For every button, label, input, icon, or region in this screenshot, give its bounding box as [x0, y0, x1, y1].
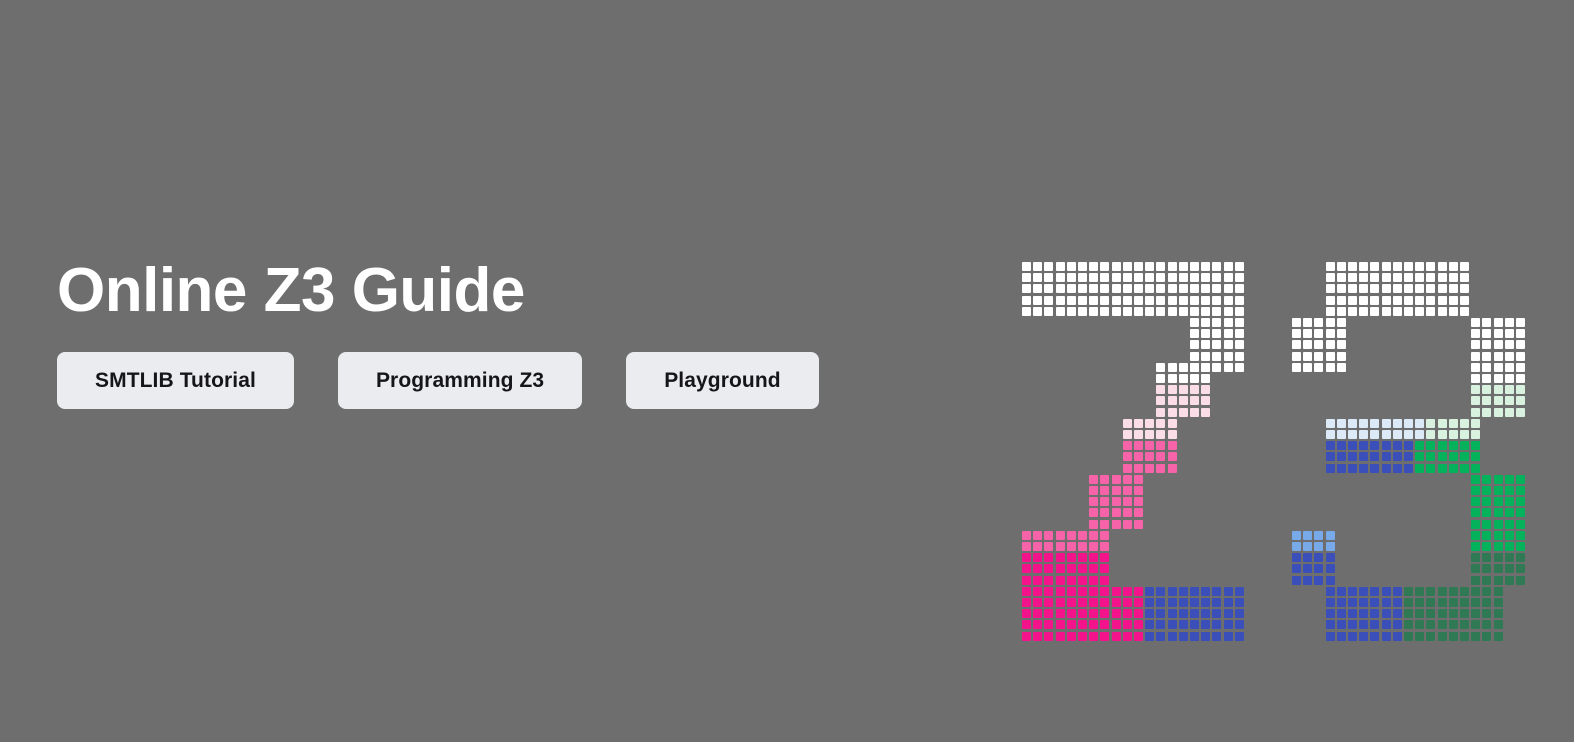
logo-pixel: [1337, 363, 1346, 372]
logo-pixel: [1516, 508, 1525, 517]
logo-pixel: [1033, 262, 1042, 271]
logo-pixel: [1078, 620, 1087, 629]
logo-pixel: [1415, 620, 1424, 629]
logo-pixel: [1168, 452, 1177, 461]
programming-z3-button[interactable]: Programming Z3: [338, 352, 582, 409]
logo-pixel: [1179, 262, 1188, 271]
logo-pixel: [1089, 576, 1098, 585]
logo-pixel: [1471, 396, 1480, 405]
logo-pixel: [1190, 284, 1199, 293]
logo-pixel: [1438, 452, 1447, 461]
logo-pixel: [1449, 632, 1458, 641]
logo-pixel: [1168, 296, 1177, 305]
logo-pixel: [1134, 307, 1143, 316]
logo-pixel: [1145, 284, 1154, 293]
logo-pixel: [1482, 486, 1491, 495]
logo-pixel: [1460, 452, 1469, 461]
logo-pixel: [1190, 329, 1199, 338]
logo-pixel: [1471, 363, 1480, 372]
logo-pixel: [1292, 542, 1301, 551]
logo-pixel: [1482, 542, 1491, 551]
logo-pixel: [1370, 464, 1379, 473]
logo-pixel: [1067, 307, 1076, 316]
logo-pixel: [1415, 419, 1424, 428]
logo-pixel: [1460, 273, 1469, 282]
logo-pixel: [1056, 273, 1065, 282]
logo-pixel: [1235, 307, 1244, 316]
logo-pixel: [1393, 620, 1402, 629]
logo-pixel: [1482, 352, 1491, 361]
logo-pixel: [1212, 318, 1221, 327]
logo-pixel: [1482, 385, 1491, 394]
logo-pixel: [1359, 452, 1368, 461]
playground-button[interactable]: Playground: [626, 352, 819, 409]
logo-pixel: [1460, 296, 1469, 305]
logo-pixel: [1100, 542, 1109, 551]
logo-pixel: [1494, 632, 1503, 641]
logo-pixel: [1393, 419, 1402, 428]
logo-pixel: [1482, 609, 1491, 618]
logo-pixel: [1449, 307, 1458, 316]
logo-pixel: [1134, 262, 1143, 271]
logo-pixel: [1022, 576, 1031, 585]
logo-pixel: [1022, 531, 1031, 540]
logo-pixel: [1190, 273, 1199, 282]
logo-pixel: [1168, 464, 1177, 473]
logo-pixel: [1224, 620, 1233, 629]
logo-pixel: [1145, 587, 1154, 596]
logo-pixel: [1505, 396, 1514, 405]
logo-pixel: [1326, 284, 1335, 293]
logo-pixel: [1145, 296, 1154, 305]
logo-pixel: [1370, 598, 1379, 607]
logo-pixel: [1112, 475, 1121, 484]
logo-pixel: [1224, 609, 1233, 618]
logo-pixel: [1404, 452, 1413, 461]
logo-pixel: [1201, 408, 1210, 417]
logo-pixel: [1056, 598, 1065, 607]
logo-pixel: [1494, 329, 1503, 338]
logo-pixel: [1212, 587, 1221, 596]
logo-pixel: [1145, 452, 1154, 461]
logo-pixel: [1382, 307, 1391, 316]
logo-pixel: [1190, 296, 1199, 305]
logo-pixel: [1067, 564, 1076, 573]
logo-pixel: [1089, 497, 1098, 506]
logo-pixel: [1056, 531, 1065, 540]
hero-copy: Online Z3 Guide SMTLIB Tutorial Programm…: [57, 258, 957, 409]
logo-pixel: [1056, 587, 1065, 596]
logo-pixel: [1471, 520, 1480, 529]
logo-pixel: [1348, 609, 1357, 618]
logo-pixel: [1235, 296, 1244, 305]
logo-pixel: [1078, 576, 1087, 585]
logo-pixel: [1415, 441, 1424, 450]
logo-pixel: [1516, 329, 1525, 338]
logo-pixel: [1438, 262, 1447, 271]
logo-pixel: [1123, 262, 1132, 271]
logo-pixel: [1471, 486, 1480, 495]
logo-pixel: [1168, 598, 1177, 607]
logo-pixel: [1426, 296, 1435, 305]
logo-pixel: [1100, 587, 1109, 596]
logo-pixel: [1112, 262, 1121, 271]
logo-pixel: [1089, 486, 1098, 495]
logo-pixel: [1089, 620, 1098, 629]
logo-pixel: [1134, 520, 1143, 529]
logo-pixel: [1022, 632, 1031, 641]
logo-pixel: [1112, 486, 1121, 495]
logo-pixel: [1179, 587, 1188, 596]
logo-pixel: [1415, 464, 1424, 473]
logo-pixel: [1123, 452, 1132, 461]
logo-pixel: [1449, 430, 1458, 439]
logo-pixel: [1494, 385, 1503, 394]
logo-pixel: [1123, 632, 1132, 641]
logo-pixel: [1326, 352, 1335, 361]
logo-pixel: [1123, 307, 1132, 316]
logo-pixel: [1471, 553, 1480, 562]
logo-pixel: [1033, 307, 1042, 316]
logo-pixel: [1326, 632, 1335, 641]
logo-pixel: [1326, 307, 1335, 316]
logo-pixel: [1044, 296, 1053, 305]
logo-pixel: [1067, 632, 1076, 641]
logo-pixel: [1326, 363, 1335, 372]
logo-pixel: [1100, 475, 1109, 484]
logo-pixel: [1370, 307, 1379, 316]
logo-pixel: [1134, 609, 1143, 618]
logo-pixel: [1235, 598, 1244, 607]
logo-pixel: [1359, 262, 1368, 271]
logo-pixel: [1145, 632, 1154, 641]
logo-pixel: [1404, 609, 1413, 618]
logo-pixel: [1382, 441, 1391, 450]
logo-pixel: [1326, 620, 1335, 629]
logo-pixel: [1471, 564, 1480, 573]
logo-pixel: [1123, 464, 1132, 473]
logo-pixel: [1348, 441, 1357, 450]
logo-pixel: [1348, 307, 1357, 316]
logo-pixel: [1471, 408, 1480, 417]
logo-pixel: [1100, 564, 1109, 573]
logo-pixel: [1033, 632, 1042, 641]
logo-pixel: [1156, 587, 1165, 596]
logo-pixel: [1516, 520, 1525, 529]
logo-pixel: [1471, 620, 1480, 629]
logo-pixel: [1393, 587, 1402, 596]
logo-pixel: [1449, 598, 1458, 607]
logo-pixel: [1156, 441, 1165, 450]
logo-pixel: [1404, 620, 1413, 629]
logo-pixel: [1471, 340, 1480, 349]
logo-pixel: [1404, 441, 1413, 450]
logo-pixel: [1067, 262, 1076, 271]
logo-pixel: [1415, 587, 1424, 596]
logo-pixel: [1123, 284, 1132, 293]
logo-pixel: [1123, 508, 1132, 517]
logo-pixel: [1359, 307, 1368, 316]
logo-pixel: [1326, 452, 1335, 461]
logo-pixel: [1156, 598, 1165, 607]
logo-pixel: [1505, 508, 1514, 517]
logo-pixel: [1359, 464, 1368, 473]
logo-pixel: [1348, 598, 1357, 607]
logo-pixel: [1303, 329, 1312, 338]
logo-pixel: [1359, 430, 1368, 439]
logo-pixel: [1123, 598, 1132, 607]
logo-pixel: [1067, 284, 1076, 293]
logo-pixel: [1168, 374, 1177, 383]
logo-pixel: [1078, 262, 1087, 271]
logo-pixel: [1224, 363, 1233, 372]
logo-pixel: [1123, 441, 1132, 450]
logo-pixel: [1100, 531, 1109, 540]
logo-pixel: [1190, 318, 1199, 327]
logo-pixel: [1415, 609, 1424, 618]
logo-pixel: [1044, 542, 1053, 551]
logo-pixel: [1314, 576, 1323, 585]
logo-pixel: [1505, 385, 1514, 394]
logo-pixel: [1438, 441, 1447, 450]
logo-pixel: [1460, 262, 1469, 271]
logo-pixel: [1123, 419, 1132, 428]
logo-pixel: [1292, 329, 1301, 338]
logo-pixel: [1482, 564, 1491, 573]
logo-pixel: [1100, 620, 1109, 629]
logo-pixel: [1168, 441, 1177, 450]
logo-pixel: [1022, 587, 1031, 596]
logo-pixel: [1370, 620, 1379, 629]
logo-pixel: [1382, 284, 1391, 293]
logo-pixel: [1337, 598, 1346, 607]
logo-pixel: [1326, 296, 1335, 305]
logo-pixel: [1516, 576, 1525, 585]
logo-pixel: [1494, 363, 1503, 372]
logo-pixel: [1156, 632, 1165, 641]
logo-pixel: [1212, 273, 1221, 282]
logo-pixel: [1156, 363, 1165, 372]
logo-pixel: [1044, 620, 1053, 629]
logo-pixel: [1100, 609, 1109, 618]
logo-pixel: [1292, 576, 1301, 585]
logo-pixel: [1460, 609, 1469, 618]
logo-pixel: [1494, 609, 1503, 618]
logo-pixel: [1426, 452, 1435, 461]
logo-pixel: [1224, 329, 1233, 338]
logo-pixel: [1022, 307, 1031, 316]
logo-pixel: [1134, 475, 1143, 484]
logo-pixel: [1100, 576, 1109, 585]
logo-pixel: [1314, 564, 1323, 573]
logo-pixel: [1382, 262, 1391, 271]
logo-pixel: [1415, 598, 1424, 607]
logo-pixel: [1404, 273, 1413, 282]
logo-pixel: [1134, 598, 1143, 607]
logo-pixel: [1404, 262, 1413, 271]
logo-pixel: [1482, 632, 1491, 641]
logo-pixel: [1168, 273, 1177, 282]
logo-pixel: [1022, 553, 1031, 562]
logo-pixel: [1337, 296, 1346, 305]
logo-pixel: [1460, 284, 1469, 293]
logo-pixel: [1033, 531, 1042, 540]
logo-pixel: [1494, 318, 1503, 327]
logo-pixel: [1190, 307, 1199, 316]
logo-pixel: [1078, 587, 1087, 596]
logo-pixel: [1337, 587, 1346, 596]
logo-pixel: [1348, 284, 1357, 293]
logo-pixel: [1168, 385, 1177, 394]
logo-pixel: [1326, 441, 1335, 450]
logo-pixel: [1516, 497, 1525, 506]
logo-pixel: [1482, 508, 1491, 517]
logo-pixel: [1359, 284, 1368, 293]
logo-pixel: [1359, 441, 1368, 450]
logo-pixel: [1505, 553, 1514, 562]
logo-pixel: [1370, 632, 1379, 641]
logo-pixel: [1089, 553, 1098, 562]
logo-pixel: [1326, 273, 1335, 282]
logo-pixel: [1078, 296, 1087, 305]
logo-pixel: [1471, 464, 1480, 473]
logo-pixel: [1212, 363, 1221, 372]
logo-pixel: [1326, 609, 1335, 618]
logo-pixel: [1426, 441, 1435, 450]
logo-pixel: [1224, 352, 1233, 361]
logo-pixel: [1179, 396, 1188, 405]
logo-pixel: [1067, 273, 1076, 282]
logo-pixel: [1212, 340, 1221, 349]
logo-pixel: [1044, 531, 1053, 540]
logo-pixel: [1516, 542, 1525, 551]
logo-pixel: [1337, 318, 1346, 327]
logo-pixel: [1460, 430, 1469, 439]
logo-pixel: [1056, 564, 1065, 573]
logo-pixel: [1449, 620, 1458, 629]
logo-pixel: [1471, 531, 1480, 540]
logo-pixel: [1179, 408, 1188, 417]
logo-pixel: [1438, 273, 1447, 282]
logo-pixel: [1033, 284, 1042, 293]
logo-pixel: [1471, 542, 1480, 551]
logo-pixel: [1393, 452, 1402, 461]
logo-pixel: [1112, 587, 1121, 596]
logo-pixel: [1505, 352, 1514, 361]
logo-pixel: [1438, 598, 1447, 607]
logo-pixel: [1382, 430, 1391, 439]
logo-pixel: [1314, 318, 1323, 327]
logo-pixel: [1314, 553, 1323, 562]
logo-pixel: [1426, 587, 1435, 596]
logo-pixel: [1471, 374, 1480, 383]
logo-pixel: [1156, 620, 1165, 629]
logo-pixel: [1471, 609, 1480, 618]
logo-pixel: [1067, 576, 1076, 585]
logo-pixel: [1382, 620, 1391, 629]
logo-pixel: [1337, 452, 1346, 461]
logo-pixel: [1201, 609, 1210, 618]
logo-pixel: [1348, 419, 1357, 428]
logo-pixel: [1056, 576, 1065, 585]
logo-pixel: [1022, 598, 1031, 607]
logo-pixel: [1482, 553, 1491, 562]
logo-pixel: [1494, 520, 1503, 529]
logo-pixel: [1156, 307, 1165, 316]
logo-pixel: [1348, 296, 1357, 305]
logo-pixel: [1224, 296, 1233, 305]
logo-pixel: [1482, 475, 1491, 484]
logo-pixel: [1326, 553, 1335, 562]
logo-pixel: [1078, 284, 1087, 293]
logo-pixel: [1156, 609, 1165, 618]
logo-pixel: [1089, 508, 1098, 517]
logo-pixel: [1123, 430, 1132, 439]
logo-pixel: [1393, 609, 1402, 618]
logo-pixel: [1033, 609, 1042, 618]
logo-pixel: [1438, 587, 1447, 596]
logo-pixel: [1056, 620, 1065, 629]
logo-pixel: [1190, 632, 1199, 641]
logo-pixel: [1505, 475, 1514, 484]
logo-pixel: [1471, 318, 1480, 327]
logo-pixel: [1212, 262, 1221, 271]
logo-pixel: [1168, 430, 1177, 439]
logo-pixel: [1494, 598, 1503, 607]
logo-pixel: [1382, 464, 1391, 473]
logo-pixel: [1033, 620, 1042, 629]
logo-pixel: [1100, 508, 1109, 517]
logo-pixel: [1201, 374, 1210, 383]
logo-pixel: [1044, 609, 1053, 618]
logo-pixel: [1145, 307, 1154, 316]
logo-pixel: [1033, 542, 1042, 551]
logo-pixel: [1089, 273, 1098, 282]
logo-pixel: [1516, 352, 1525, 361]
logo-pixel: [1370, 452, 1379, 461]
logo-pixel: [1471, 452, 1480, 461]
logo-pixel: [1359, 620, 1368, 629]
logo-pixel: [1078, 307, 1087, 316]
logo-pixel: [1382, 587, 1391, 596]
logo-pixel: [1505, 497, 1514, 506]
logo-pixel: [1449, 464, 1458, 473]
logo-pixel: [1426, 273, 1435, 282]
logo-pixel: [1505, 520, 1514, 529]
logo-pixel: [1179, 385, 1188, 394]
logo-pixel: [1168, 620, 1177, 629]
logo-pixel: [1516, 396, 1525, 405]
logo-pixel: [1393, 307, 1402, 316]
logo-pixel: [1494, 475, 1503, 484]
logo-pixel: [1190, 620, 1199, 629]
logo-pixel: [1460, 441, 1469, 450]
logo-pixel: [1212, 329, 1221, 338]
logo-pixel: [1337, 632, 1346, 641]
logo-pixel: [1370, 441, 1379, 450]
logo-pixel: [1438, 307, 1447, 316]
logo-pixel: [1516, 374, 1525, 383]
logo-pixel: [1404, 430, 1413, 439]
logo-pixel: [1235, 340, 1244, 349]
logo-pixel: [1123, 609, 1132, 618]
logo-pixel: [1212, 609, 1221, 618]
logo-pixel: [1022, 284, 1031, 293]
logo-pixel: [1415, 262, 1424, 271]
logo-pixel: [1078, 553, 1087, 562]
smtlib-tutorial-button[interactable]: SMTLIB Tutorial: [57, 352, 294, 409]
logo-pixel: [1044, 307, 1053, 316]
